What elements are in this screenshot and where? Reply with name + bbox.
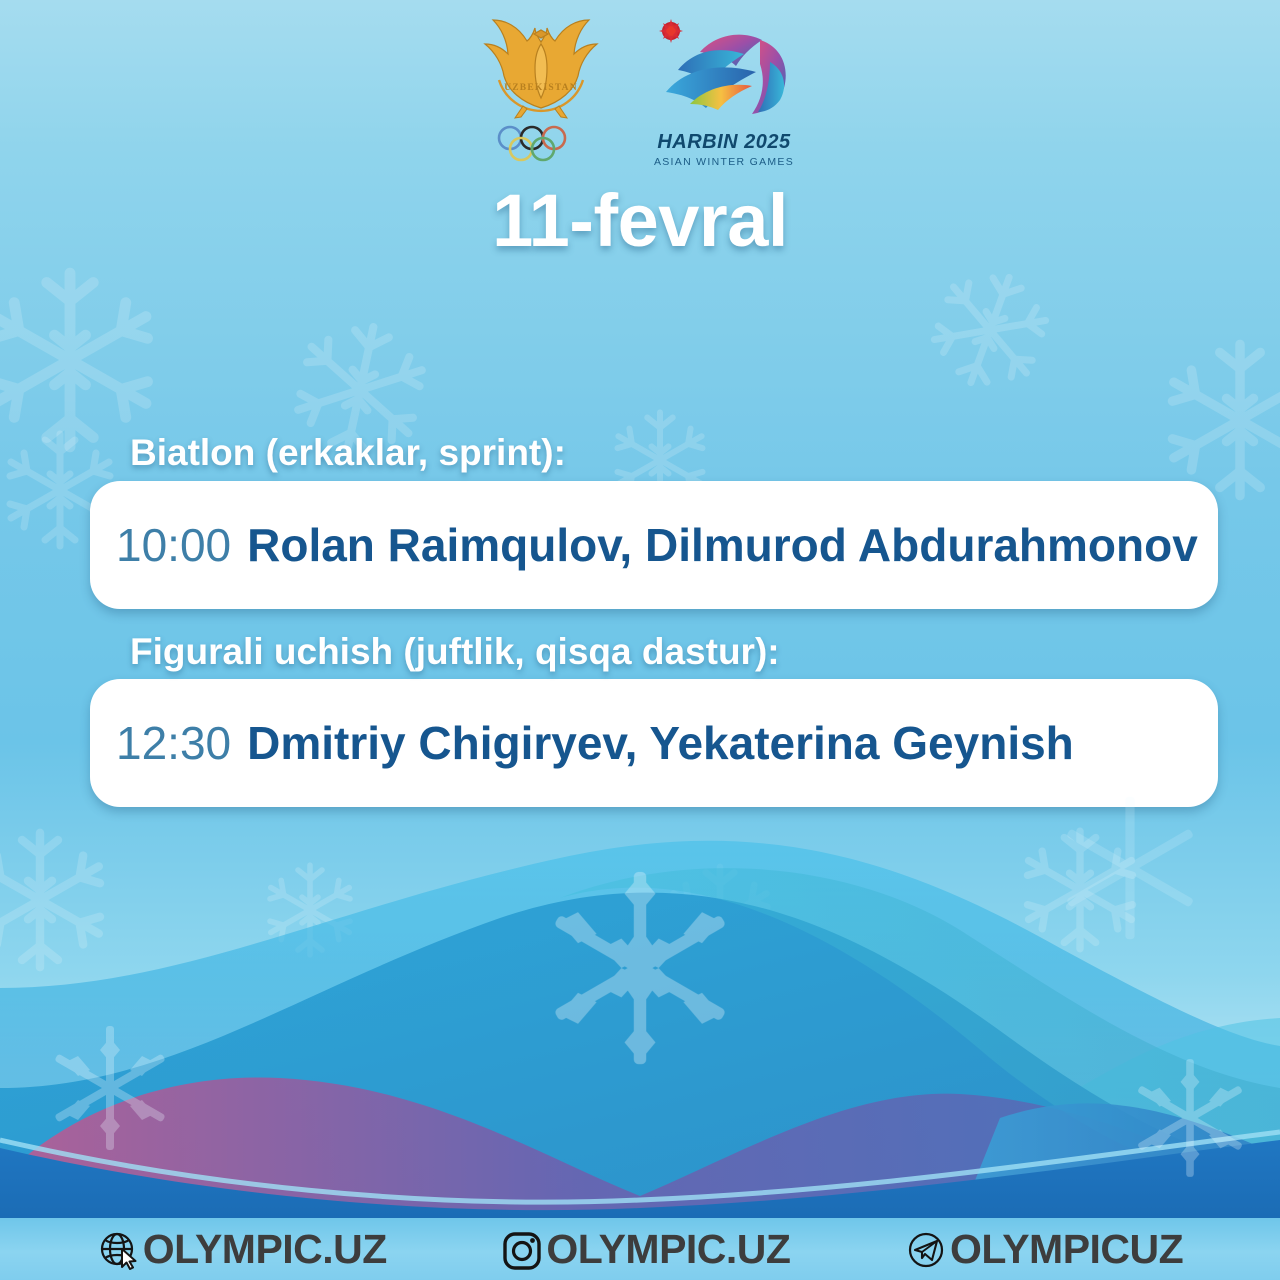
social-handle: OLYMPICUZ (950, 1226, 1183, 1273)
section-label: Figurali uchish (juftlik, qisqa dastur): (130, 631, 1280, 674)
event-time: 12:30 (116, 716, 231, 770)
event-time: 10:00 (116, 518, 231, 572)
footer-social-bar: OLYMPIC.UZ OLYMPIC.UZ OLYMPICUZ (0, 1218, 1280, 1280)
social-website[interactable]: OLYMPIC.UZ (97, 1226, 387, 1273)
harbin-emblem-icon (638, 18, 810, 130)
globe-cursor-icon (97, 1227, 141, 1271)
harbin-subtitle: ASIAN WINTER GAMES (654, 156, 794, 168)
social-handle: OLYMPIC.UZ (546, 1226, 790, 1273)
olympic-rings-icon (493, 124, 589, 166)
schedule-section: Biatlon (erkaklar, sprint): 10:00 Rolan … (0, 432, 1280, 609)
uzbekistan-emblem: UZBEKISTAN (466, 14, 616, 166)
social-instagram[interactable]: OLYMPIC.UZ (500, 1226, 790, 1273)
section-spacer (0, 609, 1280, 631)
harbin-2025-logo: HARBIN 2025 ASIAN WINTER GAMES (634, 14, 814, 168)
event-athletes: Dmitriy Chigiryev, Yekaterina Geynish (247, 716, 1074, 770)
telegram-icon (904, 1227, 948, 1271)
page-title: 11-fevral (0, 178, 1280, 263)
snowflake-icon (0, 267, 163, 453)
khumo-bird-icon: UZBEKISTAN (471, 14, 611, 126)
instagram-icon (500, 1227, 544, 1271)
schedule-section: Figurali uchish (juftlik, qisqa dastur):… (0, 631, 1280, 808)
poster-canvas: UZBEKISTAN (0, 0, 1280, 1280)
wave-decoration (0, 788, 1280, 1218)
section-label: Biatlon (erkaklar, sprint): (130, 432, 1280, 475)
header-logos: UZBEKISTAN (0, 14, 1280, 168)
social-telegram[interactable]: OLYMPICUZ (904, 1226, 1183, 1273)
harbin-title: HARBIN 2025 (657, 132, 790, 153)
event-athletes: Rolan Raimqulov, Dilmurod Abdurahmonov (247, 518, 1198, 572)
schedule-list: Biatlon (erkaklar, sprint): 10:00 Rolan … (0, 432, 1280, 807)
emblem-country-text: UZBEKISTAN (504, 83, 578, 93)
social-handle: OLYMPIC.UZ (143, 1226, 387, 1273)
snowflake-icon (913, 253, 1067, 407)
schedule-card: 10:00 Rolan Raimqulov, Dilmurod Abdurahm… (90, 481, 1218, 609)
